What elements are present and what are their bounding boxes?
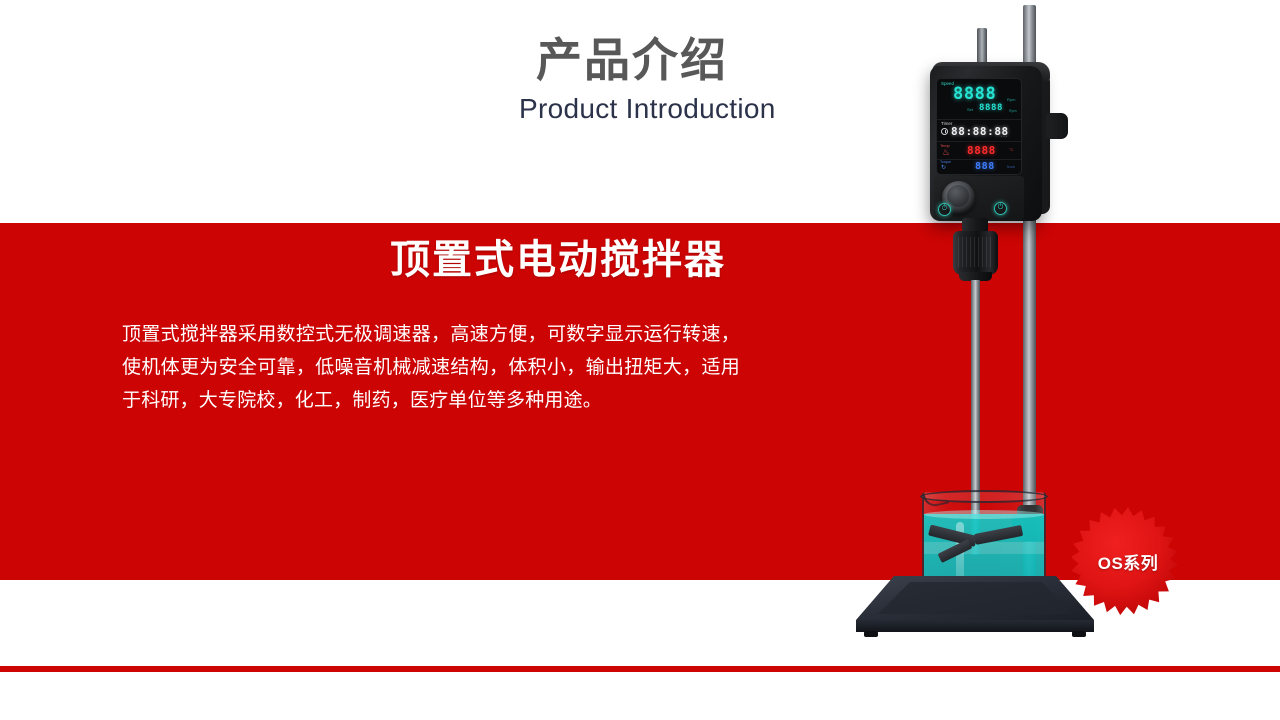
speed-row: Speed 8888 Rpm Set 8888 Rpm	[937, 79, 1021, 120]
torque-icon: ↻	[941, 165, 946, 171]
torque-unit: N.cm	[1007, 165, 1015, 169]
liquid-surface	[924, 510, 1044, 519]
control-display-panel: Speed 8888 Rpm Set 8888 Rpm Timer 88:88:…	[936, 78, 1022, 175]
base-plate	[850, 570, 1100, 648]
product-description: 顶置式搅拌器采用数控式无极调速器，高速方便，可数字显示运行转速，使机体更为安全可…	[122, 318, 740, 417]
speed-set-value: 8888	[979, 104, 1003, 113]
temperature-unit: °C	[1009, 147, 1014, 152]
footer-divider	[0, 666, 1280, 672]
timer-row: Timer 88:88:88 ...	[937, 120, 1021, 142]
chuck-ribs	[953, 237, 998, 267]
torque-row: Torque ↻ 888 N.cm	[937, 160, 1021, 175]
vent-ridges	[1218, 152, 1244, 182]
series-badge: OS系列	[1072, 505, 1184, 617]
product-title: 顶置式电动搅拌器	[390, 236, 726, 284]
torque-value: 888	[975, 162, 995, 172]
drill-chuck	[953, 231, 998, 275]
power-button-icon[interactable]: ⏻	[994, 202, 1007, 215]
clock-icon	[941, 128, 948, 135]
page-subtitle: Product Introduction	[519, 92, 776, 126]
control-area: ⏱ ⏻	[934, 176, 1024, 220]
temperature-value: 8888	[967, 145, 996, 156]
temperature-row: Temp ♨ 8888 °C	[937, 142, 1021, 160]
speed-set-label: Set	[967, 107, 973, 112]
thermometer-icon: ♨	[942, 148, 950, 157]
speed-unit: Rpm	[1007, 97, 1015, 102]
timer-button-icon[interactable]: ⏱	[938, 203, 951, 216]
product-introduction-page: 产品介绍 Product Introduction 顶置式电动搅拌器 顶置式搅拌…	[0, 0, 1280, 720]
speed-value: 8888	[953, 86, 996, 103]
page-title: 产品介绍	[536, 36, 728, 84]
speed-set-unit: Rpm	[1009, 109, 1017, 113]
torque-label: Torque	[940, 160, 951, 164]
timer-dots: ...	[1001, 133, 1008, 139]
side-connector	[1046, 113, 1068, 139]
